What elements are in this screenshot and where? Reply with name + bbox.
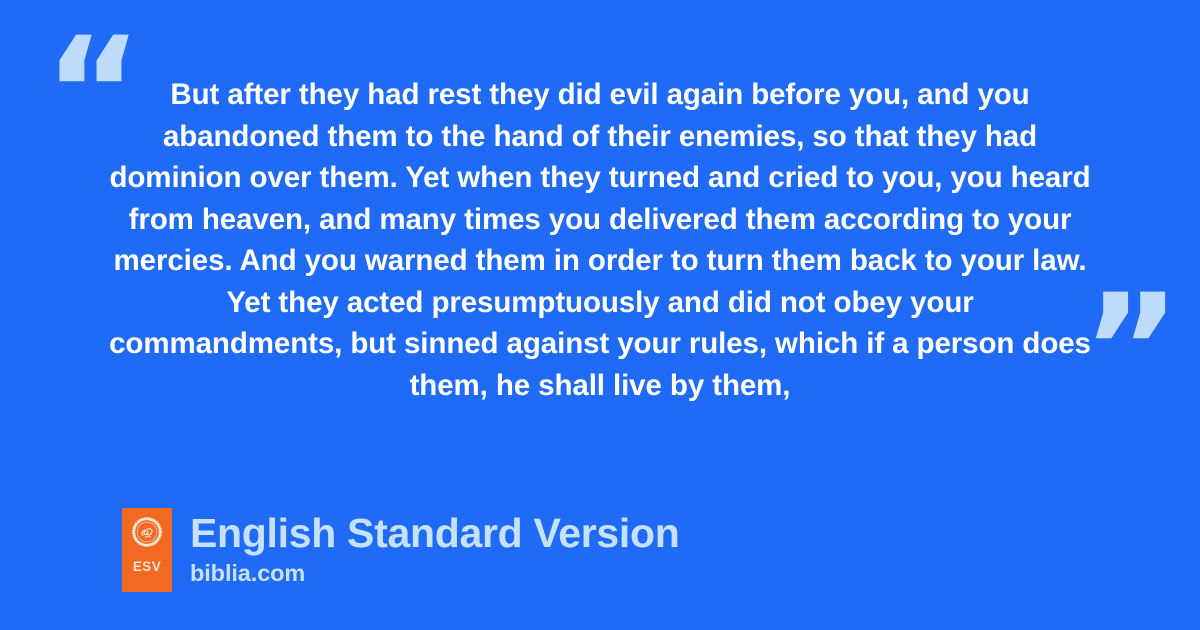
quote-card: “ But after they had rest they did evil … bbox=[0, 0, 1200, 630]
brand-text-block: English Standard Version biblia.com bbox=[190, 508, 679, 587]
esv-badge-label: ESV bbox=[133, 560, 161, 574]
brand-footer: ESV English Standard Version biblia.com bbox=[122, 508, 679, 592]
bible-version-title: English Standard Version bbox=[190, 509, 679, 557]
closing-quote-icon: ” bbox=[1082, 275, 1181, 425]
brand-website-url[interactable]: biblia.com bbox=[190, 559, 679, 587]
quote-text: But after they had rest they did evil ag… bbox=[108, 74, 1092, 406]
esv-logo-badge: ESV bbox=[122, 508, 172, 592]
esv-seal-icon bbox=[132, 517, 162, 547]
